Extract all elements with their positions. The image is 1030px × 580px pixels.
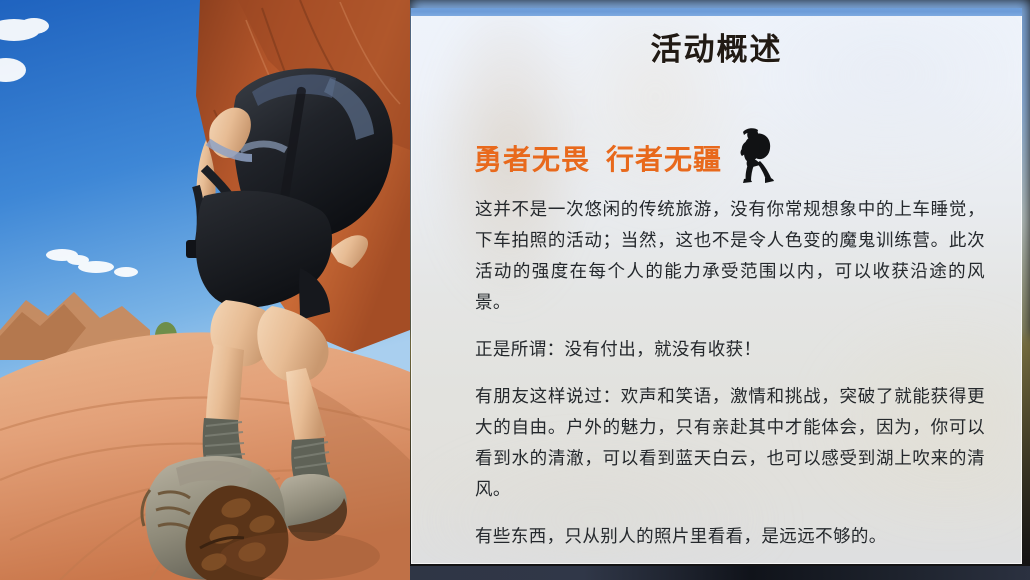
hiker-climbing-red-rock-photo <box>0 0 410 580</box>
slide-canvas: 活动概述 勇者无畏 行者无疆 <box>0 0 1030 580</box>
paragraph-2: 正是所谓：没有付出，就没有收获！ <box>475 334 985 365</box>
body-copy: 这并不是一次悠闲的传统旅游，没有你常规想象中的上车睡觉，下车拍照的活动；当然，这… <box>475 194 985 552</box>
text-panel: 活动概述 勇者无畏 行者无疆 <box>411 8 1022 564</box>
paragraph-4: 有些东西，只从别人的照片里看看，是远远不够的。 <box>475 521 985 552</box>
slide-subtitle: 勇者无畏 行者无疆 <box>474 138 722 178</box>
photo-artwork <box>0 0 410 580</box>
hiker-with-backpack-icon <box>736 127 778 185</box>
paragraph-3: 有朋友这样说过：欢声和笑语，激情和挑战，突破了就能获得更大的自由。户外的魅力，只… <box>475 381 985 505</box>
paragraph-1: 这并不是一次悠闲的传统旅游，没有你常规想象中的上车睡觉，下车拍照的活动；当然，这… <box>475 194 985 318</box>
content-pane: 活动概述 勇者无畏 行者无疆 <box>410 0 1030 580</box>
page-title: 活动概述 <box>411 24 1022 69</box>
subtitle-row: 勇者无畏 行者无疆 <box>474 131 778 185</box>
bottom-strip <box>410 566 1030 580</box>
